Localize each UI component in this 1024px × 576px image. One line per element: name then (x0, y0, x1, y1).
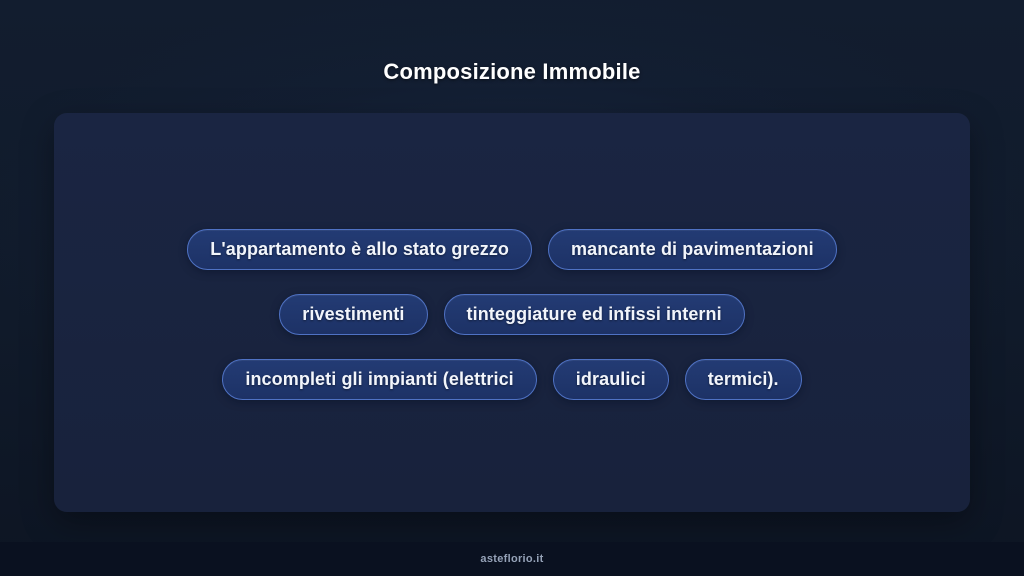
pill-item[interactable]: termici). (685, 359, 802, 400)
pill-item[interactable]: tinteggiature ed infissi interni (444, 294, 745, 335)
footer-bar: asteflorio.it (0, 542, 1024, 576)
content-card: L'appartamento è allo stato grezzo manca… (54, 113, 970, 512)
pill-item[interactable]: incompleti gli impianti (elettrici (222, 359, 536, 400)
pill-group: L'appartamento è allo stato grezzo manca… (112, 229, 912, 400)
slide-background: Composizione Immobile L'appartamento è a… (0, 0, 1024, 576)
pill-item[interactable]: L'appartamento è allo stato grezzo (187, 229, 532, 270)
pill-item[interactable]: rivestimenti (279, 294, 427, 335)
pill-item[interactable]: mancante di pavimentazioni (548, 229, 837, 270)
footer-site-label: asteflorio.it (480, 553, 543, 565)
page-title: Composizione Immobile (0, 59, 1024, 85)
pill-item[interactable]: idraulici (553, 359, 669, 400)
